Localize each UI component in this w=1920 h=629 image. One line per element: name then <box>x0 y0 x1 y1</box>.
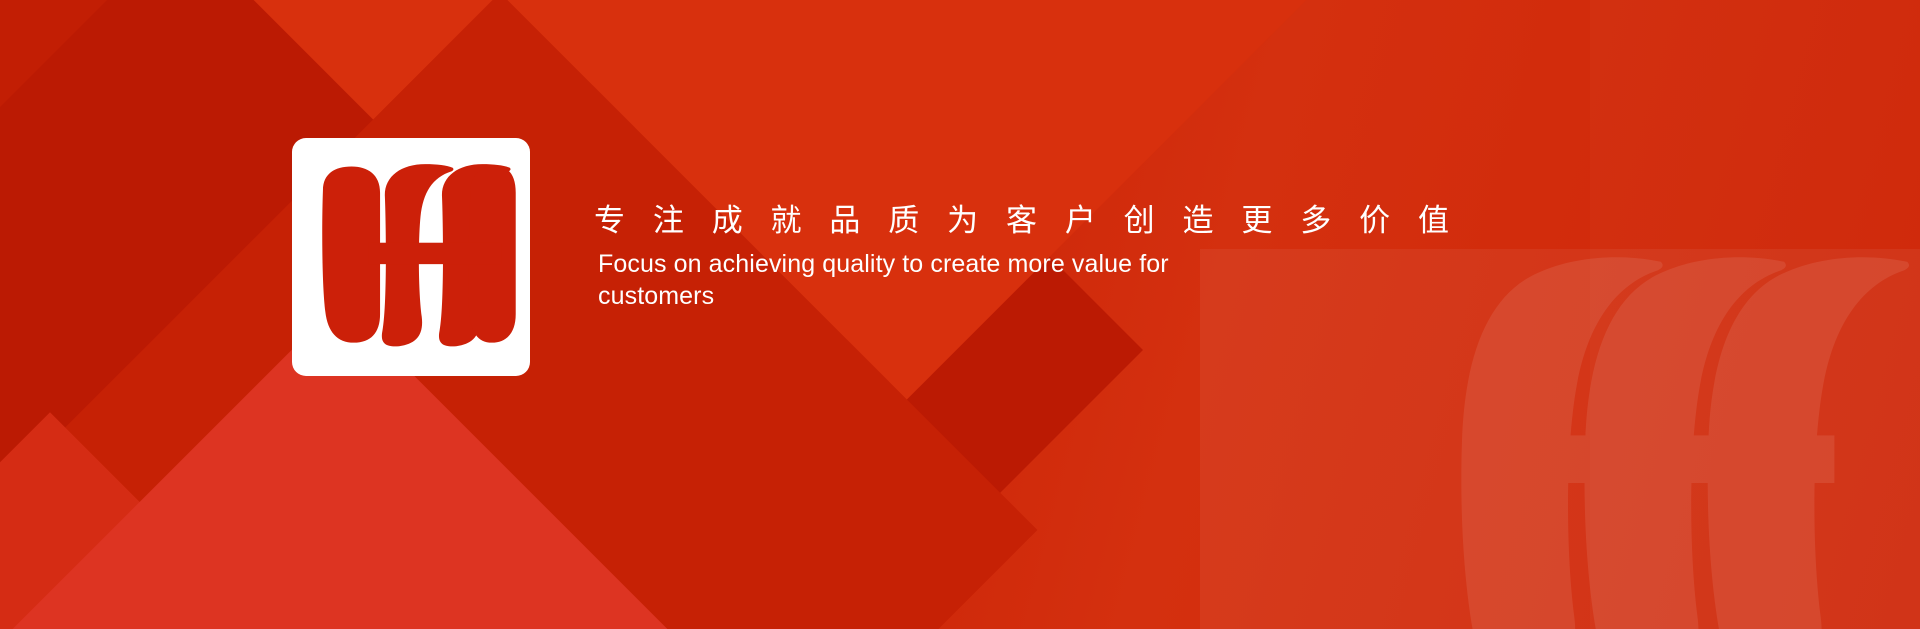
background-gradient <box>0 0 1920 629</box>
banner-headline-cn: 专 注 成 就 品 质 为 客 户 创 造 更 多 价 值 <box>594 202 1494 242</box>
decorative-triangle-left <box>0 0 1143 629</box>
banner-subline-en: Focus on achieving quality to create mor… <box>598 248 1223 313</box>
logo-watermark <box>1420 189 1920 629</box>
company-logo[interactable] <box>292 138 530 376</box>
banner-copy: 专 注 成 就 品 质 为 客 户 创 造 更 多 价 值 Focus on a… <box>594 202 1494 313</box>
promo-banner: 专 注 成 就 品 质 为 客 户 创 造 更 多 价 值 Focus on a… <box>0 0 1920 629</box>
decorative-triangle-bottom-left-2 <box>0 412 418 629</box>
decorative-panel-right-outer <box>1590 0 1920 629</box>
